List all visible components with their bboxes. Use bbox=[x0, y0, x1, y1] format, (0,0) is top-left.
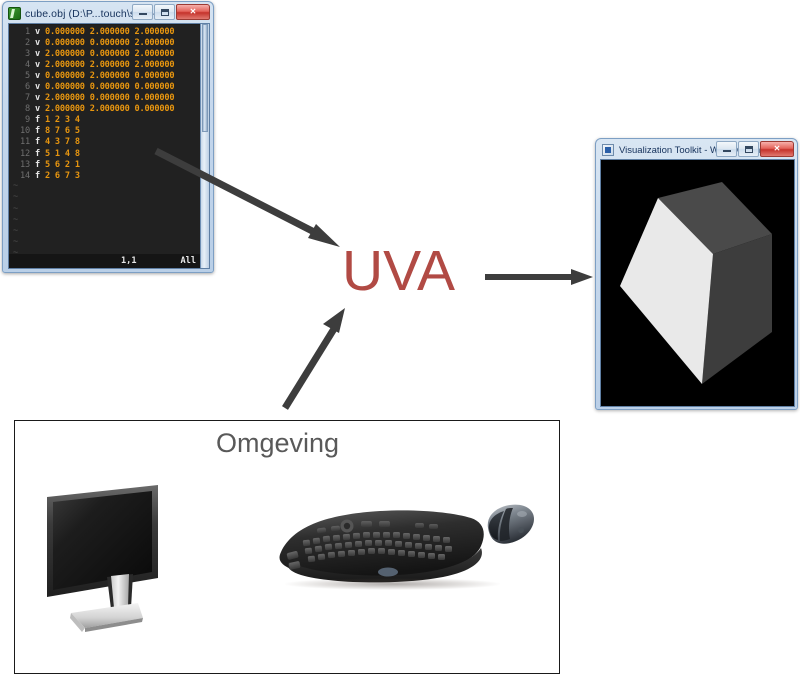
arrow-omgeving-to-uva bbox=[275, 300, 370, 415]
line-keyword: f bbox=[35, 126, 40, 136]
minimize-button[interactable] bbox=[132, 4, 153, 20]
monitor-image bbox=[45, 485, 230, 640]
line-keyword: f bbox=[35, 149, 40, 159]
vtk-titlebar[interactable]: Visualization Toolkit - Win32Open... ✕ bbox=[598, 141, 795, 159]
line-values: 0.000000 0.000000 0.000000 bbox=[45, 82, 174, 92]
line-values: 1 2 3 4 bbox=[45, 115, 80, 125]
omgeving-title: Omgeving bbox=[216, 428, 339, 459]
line-keyword: f bbox=[35, 137, 40, 147]
line-values: 2.000000 0.000000 2.000000 bbox=[45, 49, 174, 59]
mouse-image bbox=[480, 500, 538, 548]
vtk-render-area[interactable] bbox=[600, 159, 795, 407]
line-values: 5 1 4 8 bbox=[45, 149, 80, 159]
line-number: 8 bbox=[11, 104, 30, 114]
maximize-button[interactable] bbox=[154, 4, 175, 20]
gvim-window-controls: ✕ bbox=[131, 4, 210, 20]
vtk-window-controls: ✕ bbox=[715, 141, 794, 157]
cube-3d-render bbox=[601, 160, 795, 407]
line-values: 0.000000 2.000000 2.000000 bbox=[45, 27, 174, 37]
close-button[interactable]: ✕ bbox=[176, 4, 210, 20]
line-keyword: v bbox=[35, 104, 40, 114]
code-line: 8v2.000000 2.000000 0.000000 bbox=[11, 104, 200, 115]
line-keyword: v bbox=[35, 38, 40, 48]
line-number: 9 bbox=[11, 115, 30, 125]
line-values: 2 6 7 3 bbox=[45, 171, 80, 181]
code-line: 6v0.000000 0.000000 0.000000 bbox=[11, 81, 200, 92]
line-number: 1 bbox=[11, 27, 30, 37]
gvim-titlebar[interactable]: cube.obj (D:\P...touch\src) - GVIM ✕ bbox=[5, 4, 211, 23]
vtk-window[interactable]: Visualization Toolkit - Win32Open... ✕ bbox=[595, 138, 798, 410]
code-line: 1v0.000000 2.000000 2.000000 bbox=[11, 26, 200, 37]
uva-label: UVA bbox=[342, 243, 455, 300]
code-line: 9f1 2 3 4 bbox=[11, 115, 200, 126]
vtk-minimize-button[interactable] bbox=[716, 141, 737, 157]
code-line: 5v0.000000 2.000000 0.000000 bbox=[11, 70, 200, 81]
line-keyword: v bbox=[35, 93, 40, 103]
vtk-app-icon bbox=[602, 144, 614, 156]
keyboard-image bbox=[275, 500, 490, 590]
code-line: 10f8 7 6 5 bbox=[11, 126, 200, 137]
arrow-uva-to-vtk bbox=[485, 262, 595, 292]
code-line: 4v2.000000 2.000000 2.000000 bbox=[11, 59, 200, 70]
diagram-canvas: cube.obj (D:\P...touch\src) - GVIM ✕ 1v0… bbox=[0, 0, 800, 680]
line-values: 2.000000 2.000000 2.000000 bbox=[45, 60, 174, 70]
cursor-position: 1,1 bbox=[121, 256, 137, 266]
line-keyword: v bbox=[35, 49, 40, 59]
line-keyword: f bbox=[35, 160, 40, 170]
line-values: 2.000000 2.000000 0.000000 bbox=[45, 104, 174, 114]
line-keyword: f bbox=[35, 115, 40, 125]
line-values: 2.000000 0.000000 0.000000 bbox=[45, 93, 174, 103]
gvim-scrollbar-thumb[interactable] bbox=[202, 24, 208, 132]
line-values: 5 6 2 1 bbox=[45, 160, 80, 170]
line-keyword: v bbox=[35, 60, 40, 70]
code-line: 2v0.000000 0.000000 2.000000 bbox=[11, 37, 200, 48]
line-number: 10 bbox=[11, 126, 30, 136]
code-line: 3v2.000000 0.000000 2.000000 bbox=[11, 48, 200, 59]
line-number: 6 bbox=[11, 82, 30, 92]
line-number: 2 bbox=[11, 38, 30, 48]
line-number: 13 bbox=[11, 160, 30, 170]
line-values: 0.000000 0.000000 2.000000 bbox=[45, 38, 174, 48]
line-keyword: v bbox=[35, 27, 40, 37]
line-values: 4 3 7 8 bbox=[45, 137, 80, 147]
line-number: 4 bbox=[11, 60, 30, 70]
gvim-app-icon bbox=[8, 7, 21, 20]
line-keyword: v bbox=[35, 82, 40, 92]
vtk-close-button[interactable]: ✕ bbox=[760, 141, 794, 157]
line-number: 11 bbox=[11, 137, 30, 147]
line-number: 5 bbox=[11, 71, 30, 81]
line-keyword: f bbox=[35, 171, 40, 181]
line-number: 7 bbox=[11, 93, 30, 103]
line-values: 8 7 6 5 bbox=[45, 126, 80, 136]
code-line: 7v2.000000 0.000000 0.000000 bbox=[11, 93, 200, 104]
line-number: 3 bbox=[11, 49, 30, 59]
line-keyword: v bbox=[35, 71, 40, 81]
line-number: 12 bbox=[11, 149, 30, 159]
line-values: 0.000000 2.000000 0.000000 bbox=[45, 71, 174, 81]
line-number: 14 bbox=[11, 171, 30, 181]
keyboard-shadow bbox=[285, 578, 500, 590]
arrow-gvim-to-uva bbox=[140, 140, 365, 270]
vtk-maximize-button[interactable] bbox=[738, 141, 759, 157]
